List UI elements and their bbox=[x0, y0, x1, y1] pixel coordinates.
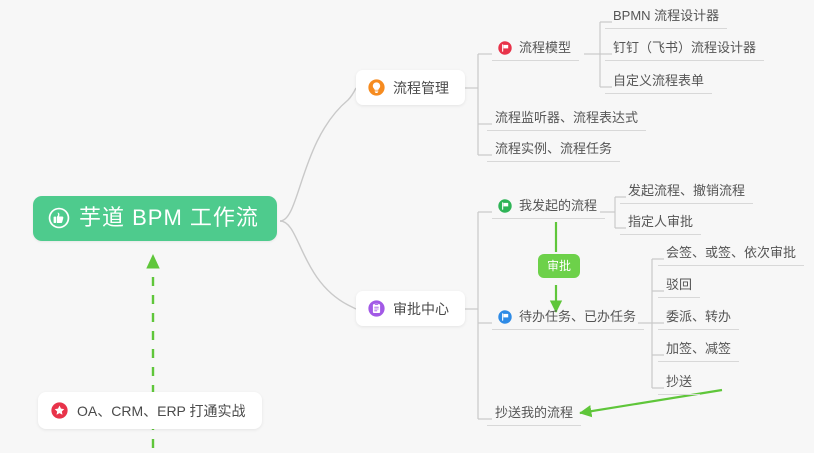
approval-tag-badge[interactable]: 审批 bbox=[538, 254, 580, 278]
flag-icon bbox=[498, 199, 512, 213]
leaf-node-start-cancel[interactable]: 发起流程、撤销流程 bbox=[620, 184, 753, 204]
leaf-node-add-remove-sign[interactable]: 加签、减签 bbox=[658, 342, 739, 362]
leaf-node-countersign[interactable]: 会签、或签、依次审批 bbox=[658, 246, 804, 266]
leaf-node-my-initiated[interactable]: 我发起的流程 bbox=[492, 199, 605, 219]
leaf-node-cc[interactable]: 抄送 bbox=[658, 375, 700, 395]
leaf-node-delegate-transfer[interactable]: 委派、转办 bbox=[658, 310, 739, 330]
lightbulb-icon bbox=[368, 79, 385, 96]
leaf-label-countersign: 会签、或签、依次审批 bbox=[666, 246, 796, 260]
clipboard-icon bbox=[368, 300, 385, 317]
note-label-integration: OA、CRM、ERP 打通实战 bbox=[77, 404, 246, 418]
thumbs-up-icon bbox=[48, 207, 70, 229]
leaf-label-add-remove-sign: 加签、减签 bbox=[666, 342, 731, 356]
leaf-node-instance-task[interactable]: 流程实例、流程任务 bbox=[487, 142, 620, 162]
mindmap-canvas: 芋道 BPM 工作流 流程管理 流程模型 BPMN 流程设计器 钉钉（飞书）流程 bbox=[0, 0, 814, 453]
branch-node-approval-center[interactable]: 审批中心 bbox=[356, 291, 465, 326]
leaf-label-reject: 驳回 bbox=[666, 278, 692, 292]
root-label: 芋道 BPM 工作流 bbox=[79, 207, 259, 229]
leaf-node-dingtalk-designer[interactable]: 钉钉（飞书）流程设计器 bbox=[605, 41, 764, 61]
leaf-node-listener-expression[interactable]: 流程监听器、流程表达式 bbox=[487, 111, 646, 131]
leaf-label-listener-expression: 流程监听器、流程表达式 bbox=[495, 111, 638, 125]
leaf-label-process-model: 流程模型 bbox=[519, 41, 571, 55]
star-icon bbox=[51, 402, 68, 419]
root-node[interactable]: 芋道 BPM 工作流 bbox=[33, 196, 277, 241]
leaf-label-dingtalk-designer: 钉钉（飞书）流程设计器 bbox=[613, 41, 756, 55]
leaf-label-custom-form: 自定义流程表单 bbox=[613, 74, 704, 88]
flag-icon bbox=[498, 310, 512, 324]
note-node-integration[interactable]: OA、CRM、ERP 打通实战 bbox=[38, 392, 262, 429]
leaf-node-process-model[interactable]: 流程模型 bbox=[492, 41, 579, 61]
branch-node-process-management[interactable]: 流程管理 bbox=[356, 70, 465, 105]
leaf-node-todo-done-tasks[interactable]: 待办任务、已办任务 bbox=[492, 310, 644, 330]
flag-icon bbox=[498, 41, 512, 55]
leaf-node-cc-to-me[interactable]: 抄送我的流程 bbox=[487, 406, 581, 426]
leaf-label-cc: 抄送 bbox=[666, 375, 692, 389]
leaf-node-reject[interactable]: 驳回 bbox=[658, 278, 700, 298]
leaf-label-assignee-approval: 指定人审批 bbox=[628, 215, 693, 229]
leaf-label-start-cancel: 发起流程、撤销流程 bbox=[628, 184, 745, 198]
leaf-label-instance-task: 流程实例、流程任务 bbox=[495, 142, 612, 156]
leaf-label-delegate-transfer: 委派、转办 bbox=[666, 310, 731, 324]
leaf-node-bpmn-designer[interactable]: BPMN 流程设计器 bbox=[605, 9, 727, 29]
leaf-label-todo-done-tasks: 待办任务、已办任务 bbox=[519, 310, 636, 324]
leaf-label-my-initiated: 我发起的流程 bbox=[519, 199, 597, 213]
branch-label-process-management: 流程管理 bbox=[393, 81, 449, 95]
branch-label-approval-center: 审批中心 bbox=[393, 302, 449, 316]
leaf-node-assignee-approval[interactable]: 指定人审批 bbox=[620, 215, 701, 235]
leaf-node-custom-form[interactable]: 自定义流程表单 bbox=[605, 74, 712, 94]
leaf-label-cc-to-me: 抄送我的流程 bbox=[495, 406, 573, 420]
leaf-label-bpmn-designer: BPMN 流程设计器 bbox=[613, 9, 719, 23]
